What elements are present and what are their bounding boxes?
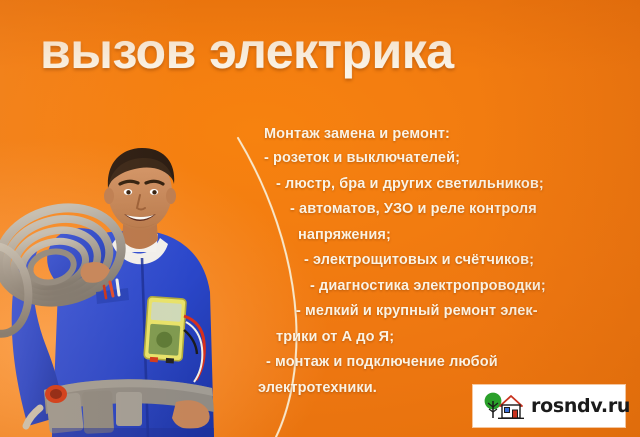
house-and-tree-icon bbox=[482, 391, 524, 421]
services-heading: Монтаж замена и ремонт: bbox=[264, 126, 640, 142]
service-item: - монтаж и подключение любой bbox=[266, 355, 640, 369]
electrician-photo bbox=[0, 140, 250, 437]
service-item: - розеток и выключателей; bbox=[264, 151, 640, 165]
watermark[interactable]: rosndv.ru bbox=[473, 385, 625, 427]
service-item-cont: трики от А до Я; bbox=[276, 330, 640, 344]
advertisement-poster: вызов электрика Монтаж замена и ремонт: … bbox=[0, 0, 640, 437]
service-item: - электрощитовых и счётчиков; bbox=[304, 253, 640, 267]
poster-title: вызов электрика bbox=[40, 22, 454, 80]
service-item: - мелкий и крупный ремонт элек- bbox=[296, 304, 640, 318]
watermark-text: rosndv.ru bbox=[531, 395, 630, 417]
service-item: - люстр, бра и других светильников; bbox=[276, 177, 640, 191]
service-item-cont: напряжения; bbox=[298, 228, 640, 242]
service-item: - автоматов, УЗО и реле контроля bbox=[290, 202, 640, 216]
services-list: Монтаж замена и ремонт: - розеток и выкл… bbox=[246, 126, 640, 406]
service-item: - диагностика электропроводки; bbox=[310, 279, 640, 293]
